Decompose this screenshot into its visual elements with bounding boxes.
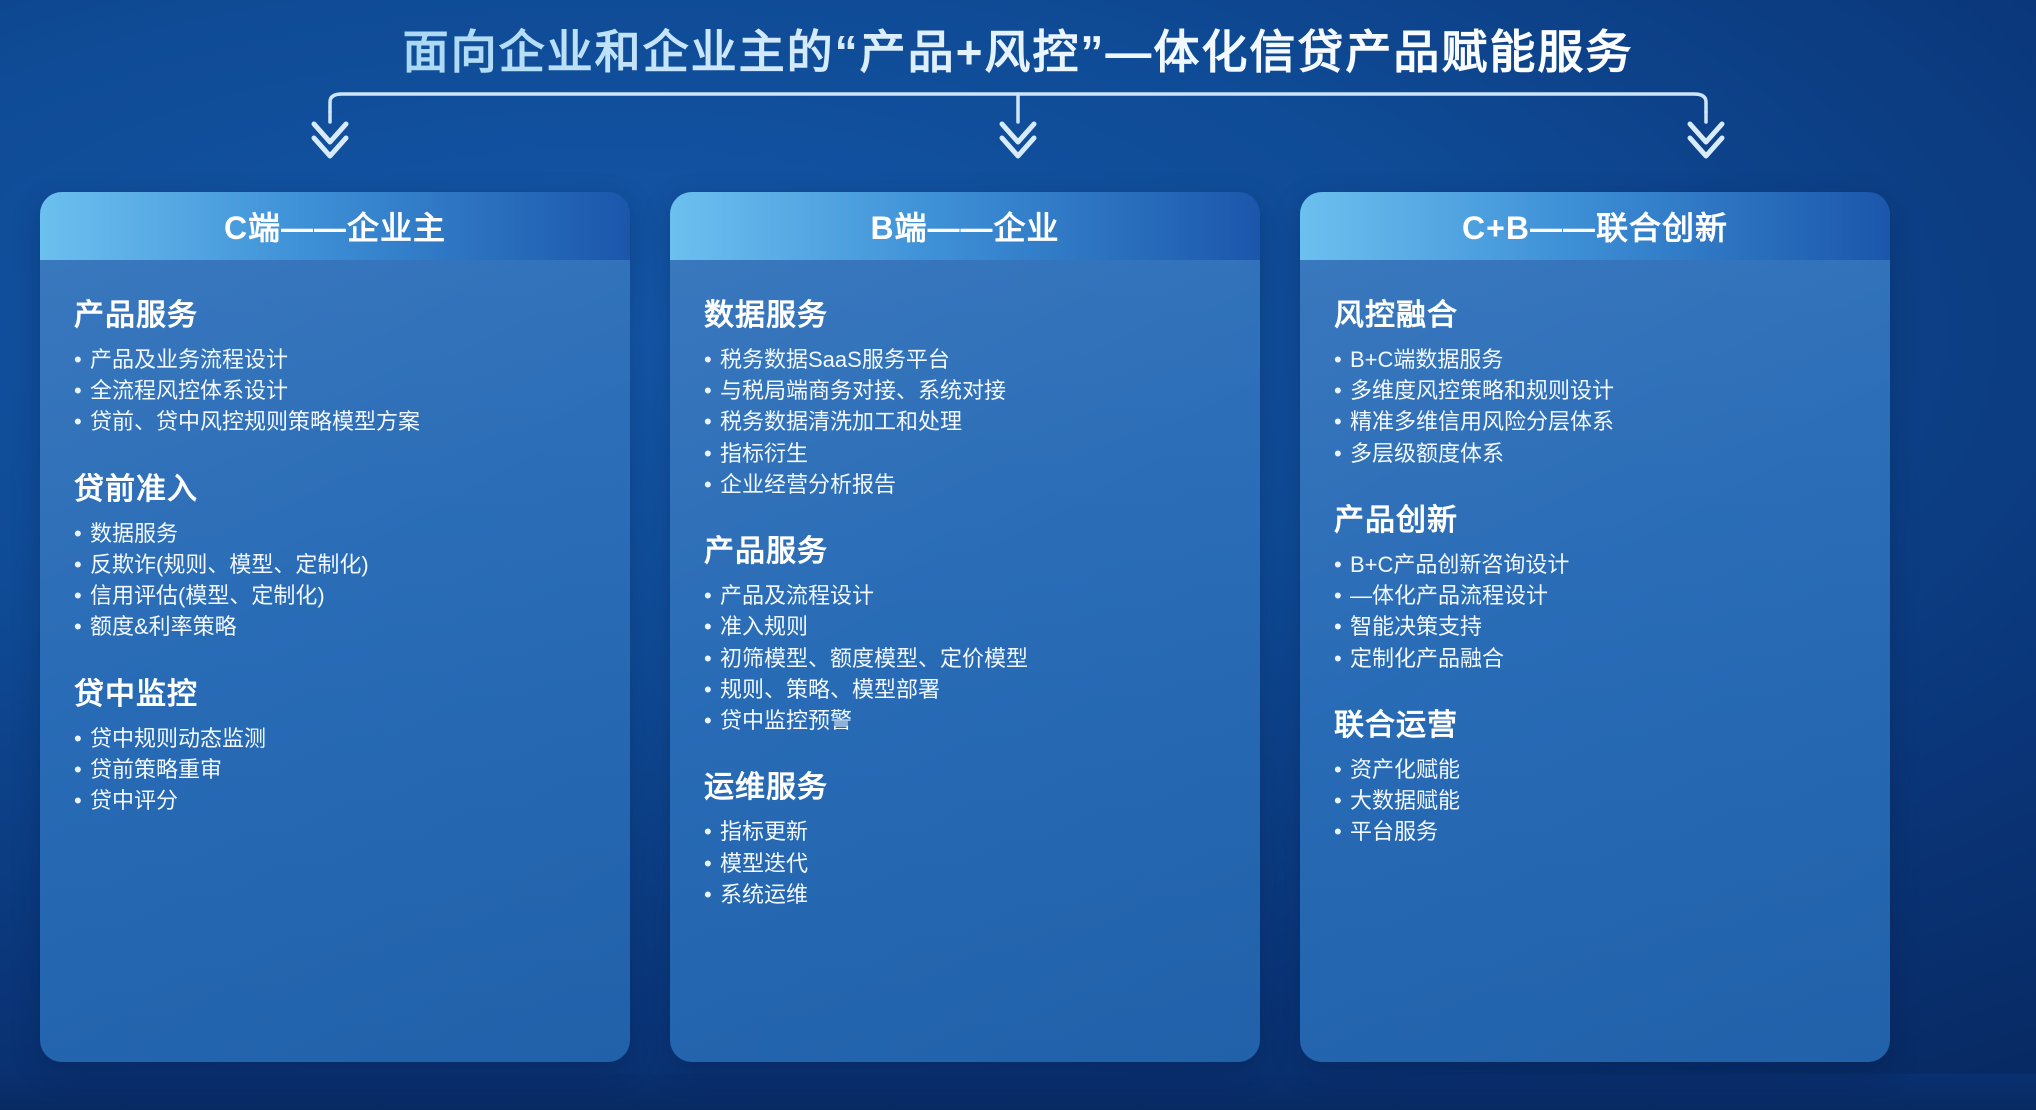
list-item: 多层级额度体系	[1334, 438, 1856, 469]
connector-bracket	[0, 92, 2036, 162]
list-item: 贷前策略重审	[74, 754, 596, 785]
section-title: 联合运营	[1334, 700, 1856, 744]
section: 风控融合 B+C端数据服务 多维度风控策略和规则设计 精准多维信用风险分层体系 …	[1334, 290, 1856, 469]
list-item: 贷中评分	[74, 785, 596, 816]
double-chevron-down-icon	[314, 124, 1722, 156]
list-item: 贷中规则动态监测	[74, 723, 596, 754]
list-item: 信用评估(模型、定制化)	[74, 580, 596, 611]
section: 运维服务 指标更新 模型迭代 系统运维	[704, 762, 1226, 910]
section: 贷中监控 贷中规则动态监测 贷前策略重审 贷中评分	[74, 669, 596, 817]
list-item: 初筛模型、额度模型、定价模型	[704, 643, 1226, 674]
bullet-list: 指标更新 模型迭代 系统运维	[704, 816, 1226, 910]
list-item: 多维度风控策略和规则设计	[1334, 375, 1856, 406]
list-item: 规则、策略、模型部署	[704, 674, 1226, 705]
section-title: 产品创新	[1334, 495, 1856, 539]
card-header-b-end: B端——企业	[670, 192, 1260, 260]
section: 产品创新 B+C产品创新咨询设计 —体化产品流程设计 智能决策支持 定制化产品融…	[1334, 495, 1856, 674]
list-item: 税务数据SaaS服务平台	[704, 344, 1226, 375]
card-b-end[interactable]: B端——企业 数据服务 税务数据SaaS服务平台 与税局端商务对接、系统对接 税…	[670, 192, 1260, 1062]
page-title-wrap: 面向企业和企业主的“产品+风控”—体化信贷产品赋能服务	[0, 24, 2036, 82]
card-body-c-end: 产品服务 产品及业务流程设计 全流程风控体系设计 贷前、贷中风控规则策略模型方案…	[40, 260, 630, 1062]
card-cb-joint[interactable]: C+B——联合创新 风控融合 B+C端数据服务 多维度风控策略和规则设计 精准多…	[1300, 192, 1890, 1062]
bullet-list: 产品及业务流程设计 全流程风控体系设计 贷前、贷中风控规则策略模型方案	[74, 344, 596, 438]
section-title: 数据服务	[704, 290, 1226, 334]
card-header-c-end: C端——企业主	[40, 192, 630, 260]
list-item: 税务数据清洗加工和处理	[704, 406, 1226, 437]
bullet-list: 税务数据SaaS服务平台 与税局端商务对接、系统对接 税务数据清洗加工和处理 指…	[704, 344, 1226, 500]
list-item: 智能决策支持	[1334, 611, 1856, 642]
list-item: 全流程风控体系设计	[74, 375, 596, 406]
list-item: 模型迭代	[704, 848, 1226, 879]
bullet-list: 产品及流程设计 准入规则 初筛模型、额度模型、定价模型 规则、策略、模型部署 贷…	[704, 580, 1226, 736]
page-title: 面向企业和企业主的“产品+风控”—体化信贷产品赋能服务	[403, 24, 1634, 82]
list-item: 准入规则	[704, 611, 1226, 642]
list-item: 大数据赋能	[1334, 785, 1856, 816]
section: 联合运营 资产化赋能 大数据赋能 平台服务	[1334, 700, 1856, 848]
list-item: 企业经营分析报告	[704, 469, 1226, 500]
bullet-list: 贷中规则动态监测 贷前策略重审 贷中评分	[74, 723, 596, 817]
list-item: B+C端数据服务	[1334, 344, 1856, 375]
list-item: 贷前、贷中风控规则策略模型方案	[74, 406, 596, 437]
list-item: —体化产品流程设计	[1334, 580, 1856, 611]
section: 产品服务 产品及流程设计 准入规则 初筛模型、额度模型、定价模型 规则、策略、模…	[704, 526, 1226, 736]
bullet-list: 资产化赋能 大数据赋能 平台服务	[1334, 754, 1856, 848]
card-body-b-end: 数据服务 税务数据SaaS服务平台 与税局端商务对接、系统对接 税务数据清洗加工…	[670, 260, 1260, 1062]
list-item: 产品及业务流程设计	[74, 344, 596, 375]
list-item: 定制化产品融合	[1334, 643, 1856, 674]
list-item: 与税局端商务对接、系统对接	[704, 375, 1226, 406]
list-item: 产品及流程设计	[704, 580, 1226, 611]
bullet-list: 数据服务 反欺诈(规则、模型、定制化) 信用评估(模型、定制化) 额度&利率策略	[74, 518, 596, 643]
list-item: 指标更新	[704, 816, 1226, 847]
section-title: 风控融合	[1334, 290, 1856, 334]
list-item: 数据服务	[74, 518, 596, 549]
section: 产品服务 产品及业务流程设计 全流程风控体系设计 贷前、贷中风控规则策略模型方案	[74, 290, 596, 438]
section-title: 贷前准入	[74, 464, 596, 508]
card-header-cb-joint: C+B——联合创新	[1300, 192, 1890, 260]
list-item: 反欺诈(规则、模型、定制化)	[74, 549, 596, 580]
list-item: 平台服务	[1334, 816, 1856, 847]
section-title: 产品服务	[704, 526, 1226, 570]
section-title: 运维服务	[704, 762, 1226, 806]
bullet-list: B+C端数据服务 多维度风控策略和规则设计 精准多维信用风险分层体系 多层级额度…	[1334, 344, 1856, 469]
card-c-end[interactable]: C端——企业主 产品服务 产品及业务流程设计 全流程风控体系设计 贷前、贷中风控…	[40, 192, 630, 1062]
section: 贷前准入 数据服务 反欺诈(规则、模型、定制化) 信用评估(模型、定制化) 额度…	[74, 464, 596, 643]
section-title: 产品服务	[74, 290, 596, 334]
card-body-cb-joint: 风控融合 B+C端数据服务 多维度风控策略和规则设计 精准多维信用风险分层体系 …	[1300, 260, 1890, 1062]
cards-row: C端——企业主 产品服务 产品及业务流程设计 全流程风控体系设计 贷前、贷中风控…	[40, 192, 1996, 1062]
list-item: 资产化赋能	[1334, 754, 1856, 785]
list-item: 额度&利率策略	[74, 611, 596, 642]
list-item: 系统运维	[704, 879, 1226, 910]
list-item: 贷中监控预警	[704, 705, 1226, 736]
bottom-strip	[0, 1074, 2036, 1110]
section: 数据服务 税务数据SaaS服务平台 与税局端商务对接、系统对接 税务数据清洗加工…	[704, 290, 1226, 500]
bullet-list: B+C产品创新咨询设计 —体化产品流程设计 智能决策支持 定制化产品融合	[1334, 549, 1856, 674]
list-item: 指标衍生	[704, 438, 1226, 469]
list-item: B+C产品创新咨询设计	[1334, 549, 1856, 580]
section-title: 贷中监控	[74, 669, 596, 713]
list-item: 精准多维信用风险分层体系	[1334, 406, 1856, 437]
